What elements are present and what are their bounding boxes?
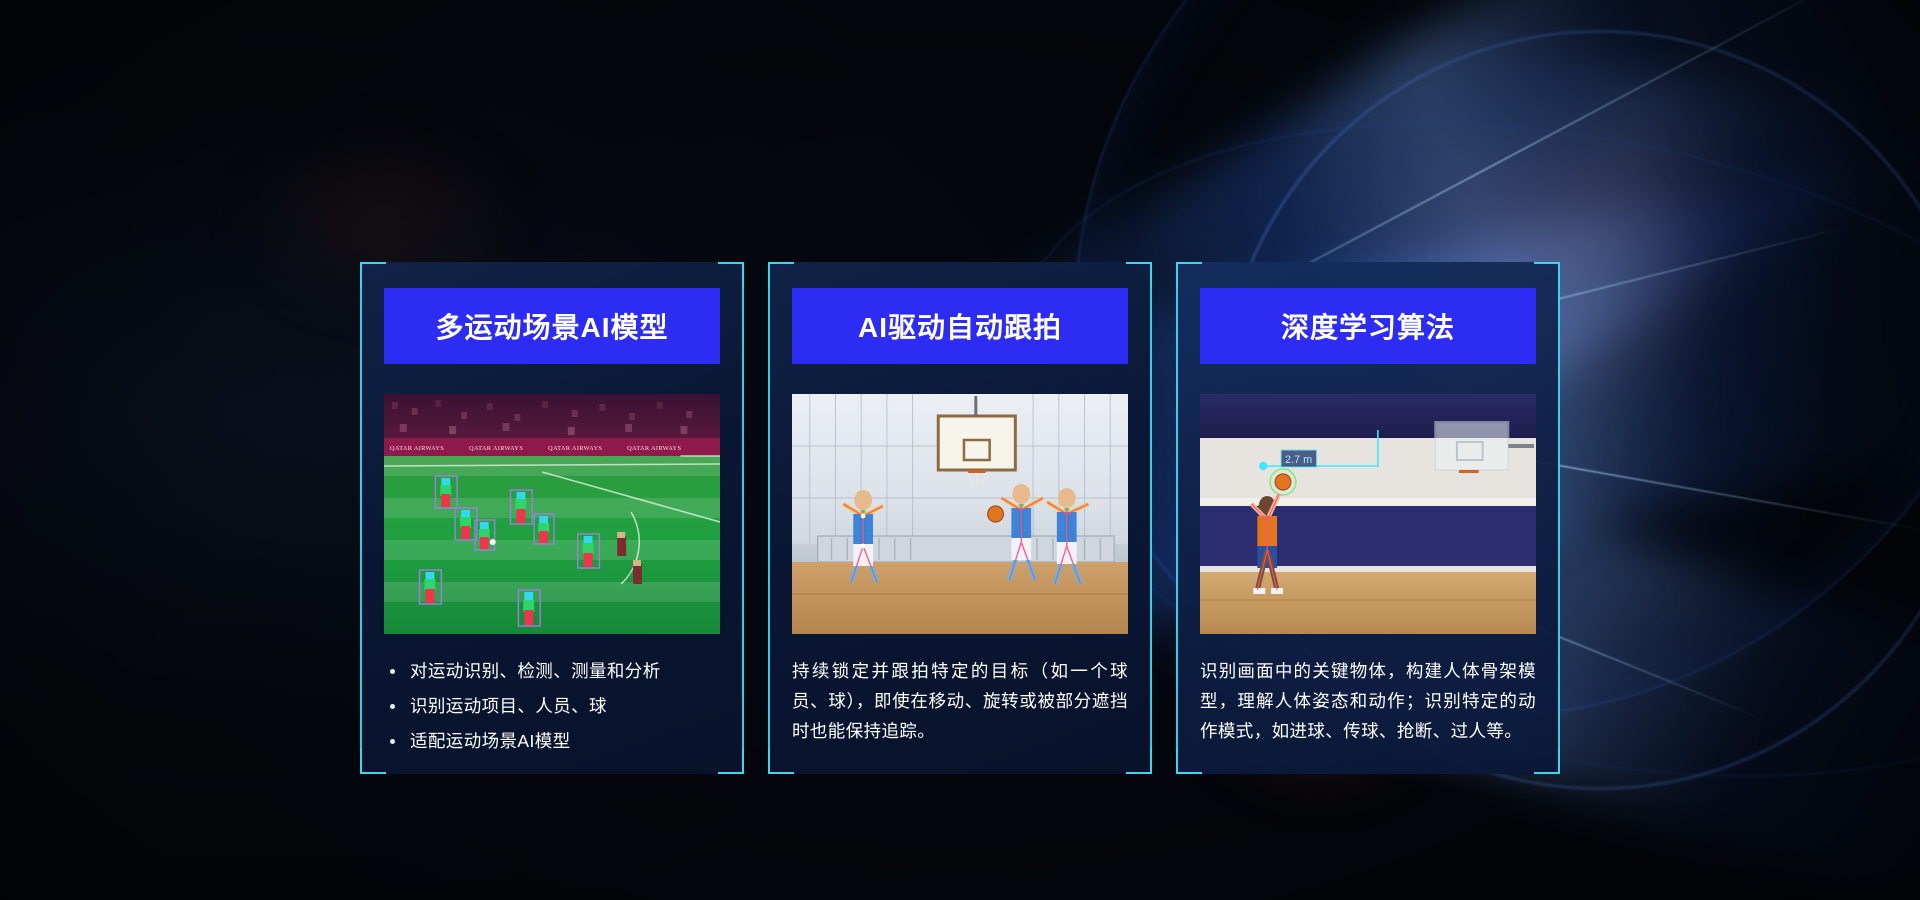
corner-bracket-top-left-icon bbox=[1176, 262, 1202, 288]
feature-description: 识别画面中的关键物体，构建人体骨架模型，理解人体姿态和动作；识别特定的动作模式，… bbox=[1200, 656, 1536, 746]
corner-bracket-top-right-icon bbox=[1126, 262, 1152, 288]
card-edge-left bbox=[360, 262, 362, 774]
list-item: 适配运动场景AI模型 bbox=[384, 726, 720, 756]
corner-bracket-top-right-icon bbox=[718, 262, 744, 288]
card-body-text: 对运动识别、检测、测量和分析 识别运动项目、人员、球 适配运动场景AI模型 bbox=[384, 656, 720, 756]
feature-description: 持续锁定并跟拍特定的目标（如一个球员、球），即使在移动、旋转或被部分遮挡时也能保… bbox=[792, 656, 1128, 746]
feature-card-ai-auto-tracking-shot[interactable]: AI驱动自动跟拍 bbox=[768, 262, 1152, 774]
card-thumbnail-shot-height-measure: 2.7 m bbox=[1200, 394, 1536, 634]
card-edge-right bbox=[742, 262, 744, 774]
feature-bullet-list: 对运动识别、检测、测量和分析 识别运动项目、人员、球 适配运动场景AI模型 bbox=[384, 656, 720, 756]
corner-bracket-bottom-left-icon bbox=[768, 748, 794, 774]
card-thumbnail-basketball-tracking bbox=[792, 394, 1128, 634]
corner-bracket-top-right-icon bbox=[1534, 262, 1560, 288]
card-thumbnail-soccer-detection: QATAR AIRWAYS QATAR AIRWAYS QATAR AIRWAY… bbox=[384, 394, 720, 634]
corner-bracket-bottom-left-icon bbox=[360, 748, 386, 774]
corner-bracket-bottom-right-icon bbox=[718, 748, 744, 774]
card-edge-right bbox=[1558, 262, 1560, 774]
card-body-text: 持续锁定并跟拍特定的目标（如一个球员、球），即使在移动、旋转或被部分遮挡时也能保… bbox=[792, 656, 1128, 746]
card-header-title: AI驱动自动跟拍 bbox=[792, 288, 1128, 364]
feature-card-row: 多运动场景AI模型 bbox=[0, 0, 1920, 900]
corner-bracket-bottom-left-icon bbox=[1176, 748, 1202, 774]
svg-text:QATAR AIRWAYS: QATAR AIRWAYS bbox=[390, 445, 444, 452]
card-panel: 深度学习算法 bbox=[1178, 262, 1558, 774]
feature-card-multi-sport-ai-model[interactable]: 多运动场景AI模型 bbox=[360, 262, 744, 774]
card-panel: 多运动场景AI模型 bbox=[362, 262, 742, 774]
card-header-title: 多运动场景AI模型 bbox=[384, 288, 720, 364]
corner-bracket-bottom-right-icon bbox=[1126, 748, 1152, 774]
card-edge-right bbox=[1150, 262, 1152, 774]
svg-text:QATAR AIRWAYS: QATAR AIRWAYS bbox=[469, 445, 523, 452]
corner-bracket-top-left-icon bbox=[768, 262, 794, 288]
card-panel: AI驱动自动跟拍 bbox=[770, 262, 1150, 774]
svg-text:QATAR AIRWAYS: QATAR AIRWAYS bbox=[627, 445, 681, 452]
card-edge-left bbox=[768, 262, 770, 774]
card-edge-left bbox=[1176, 262, 1178, 774]
feature-card-deep-learning-algorithm[interactable]: 深度学习算法 bbox=[1176, 262, 1560, 774]
list-item: 识别运动项目、人员、球 bbox=[384, 691, 720, 721]
card-body-text: 识别画面中的关键物体，构建人体骨架模型，理解人体姿态和动作；识别特定的动作模式，… bbox=[1200, 656, 1536, 746]
svg-text:QATAR AIRWAYS: QATAR AIRWAYS bbox=[548, 445, 602, 452]
card-header-title: 深度学习算法 bbox=[1200, 288, 1536, 364]
svg-text:2.7 m: 2.7 m bbox=[1285, 454, 1312, 466]
list-item: 对运动识别、检测、测量和分析 bbox=[384, 656, 720, 686]
corner-bracket-top-left-icon bbox=[360, 262, 386, 288]
corner-bracket-bottom-right-icon bbox=[1534, 748, 1560, 774]
